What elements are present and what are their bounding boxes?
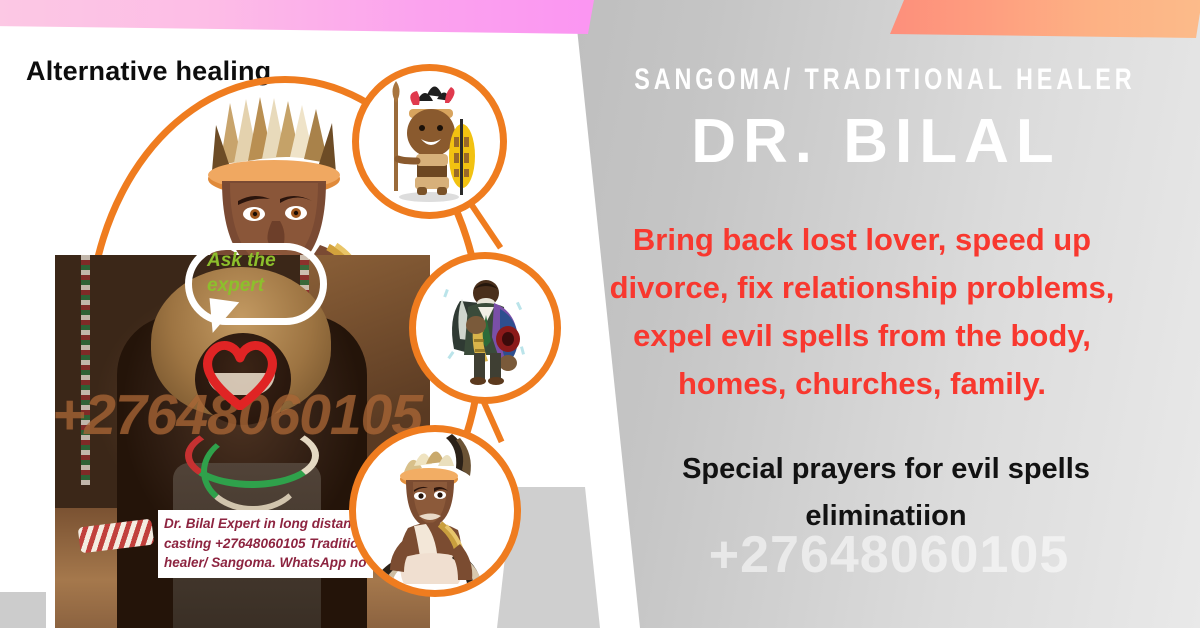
robed-healer-icon	[416, 259, 554, 397]
poster-canvas: Alternative healing	[0, 0, 1200, 628]
speech-bubble-tail	[205, 298, 239, 336]
heart-icon	[198, 336, 282, 410]
orange-top-banner	[890, 0, 1200, 38]
page-title: Alternative healing	[26, 56, 271, 87]
photo-bead-strip-left	[81, 255, 90, 485]
circle-robed-healer	[409, 252, 561, 404]
crouching-warrior-icon	[356, 432, 514, 590]
services-line-3: expel evil spells from the body,	[552, 312, 1172, 360]
services-line-2: divorce, fix relationship problems,	[552, 264, 1172, 312]
doctor-name: DR. BILAL	[566, 106, 1186, 177]
circle-zulu-warrior-cartoon	[352, 64, 507, 219]
kicker-text: SANGOMA/ TRADITIONAL HEALER	[634, 63, 1118, 97]
services-line-4: homes, churches, family.	[552, 360, 1172, 408]
caption-line-2: casting +27648060105 Traditio	[164, 534, 367, 554]
circle-crouching-warrior	[349, 425, 521, 597]
phone-watermark: +27648060105	[596, 525, 1182, 585]
zulu-warrior-icon	[359, 71, 500, 212]
caption-line-1: Dr. Bilal Expert in long distan	[164, 514, 367, 534]
caption-line-3: healer/ Sangoma. WhatsApp no	[164, 553, 367, 573]
services-text: Bring back lost lover, speed up divorce,…	[552, 216, 1172, 408]
prayers-line-1: Special prayers for evil spells	[596, 446, 1176, 493]
speech-bubble-text: Ask the expert	[207, 248, 317, 298]
services-line-1: Bring back lost lover, speed up	[552, 216, 1172, 264]
photo-caption: Dr. Bilal Expert in long distan casting …	[158, 510, 373, 578]
